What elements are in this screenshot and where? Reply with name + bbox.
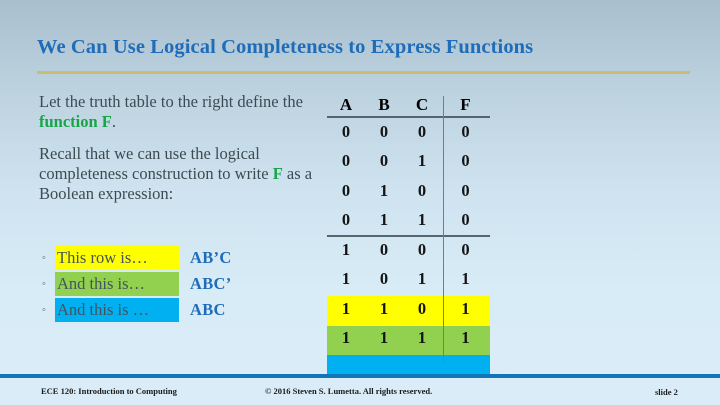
cell-c: 0 [403,122,441,142]
bullet-expression-yellow: AB’C [190,248,232,268]
table-row: 1 1 0 1 [327,294,490,324]
cell-c: 0 [403,240,441,260]
table-row: 0 0 0 0 [327,117,490,147]
cell-a: 1 [327,269,365,289]
cell-c: 1 [403,151,441,171]
cell-a: 0 [327,181,365,201]
cell-a: 0 [327,210,365,230]
cell-f: 1 [441,328,490,348]
list-item: ◦ This row is… AB’C [42,245,332,271]
table-row: 1 0 0 0 [327,235,490,265]
footer-slide-number: slide 2 [655,387,678,397]
paragraph-1-text-a: Let the truth table to the right define … [39,92,303,111]
cell-a: 0 [327,151,365,171]
cell-a: 0 [327,122,365,142]
table-row: 1 1 1 1 [327,324,490,354]
table-header-row: A B C F [327,92,490,117]
cell-f: 0 [441,151,490,171]
bullet-label-cyan: And this is … [55,298,179,322]
bullet-label-green: And this is… [55,272,179,296]
bullet-expression-cyan: ABC [190,300,226,320]
table-row: 1 0 1 1 [327,265,490,295]
paragraph-1-text-b: . [112,112,116,131]
cell-a: 1 [327,240,365,260]
cell-b: 0 [365,240,403,260]
column-header-a: A [327,95,365,115]
body-text-column: Let the truth table to the right define … [39,92,319,214]
table-vertical-divider [443,96,444,364]
title-underline-rule [37,71,690,74]
footer-course-label: ECE 120: Introduction to Computing [41,386,177,396]
bullet-expression-green: ABC’ [190,274,232,294]
table-body: 0 0 0 0 0 0 1 0 0 1 0 0 0 1 1 0 [327,117,490,353]
bullet-label-yellow: This row is… [55,246,179,270]
cell-f: 0 [441,181,490,201]
table-row: 0 0 1 0 [327,147,490,177]
footer-copyright-label: © 2016 Steven S. Lumetta. All rights res… [265,386,432,396]
cell-f: 1 [441,299,490,319]
cell-b: 1 [365,328,403,348]
cell-f: 0 [441,210,490,230]
cell-b: 0 [365,151,403,171]
column-header-b: B [365,95,403,115]
cell-c: 1 [403,328,441,348]
paragraph-2-text-a: Recall that we can use the logical compl… [39,144,273,183]
bullet-circle-icon: ◦ [42,279,55,290]
table-rule-midway [327,235,490,237]
bullet-circle-icon: ◦ [42,305,55,316]
cell-f: 1 [441,269,490,289]
cell-b: 0 [365,122,403,142]
cell-f: 0 [441,240,490,260]
cell-a: 1 [327,328,365,348]
cell-b: 1 [365,210,403,230]
table-rule-after-header [327,116,490,118]
cell-c: 1 [403,210,441,230]
column-header-c: C [403,95,441,115]
list-item: ◦ And this is… ABC’ [42,271,332,297]
cell-b: 1 [365,181,403,201]
cell-c: 1 [403,269,441,289]
cell-b: 1 [365,299,403,319]
page-title: We Can Use Logical Completeness to Expre… [37,36,697,59]
paragraph-1-function-label: function F [39,112,112,131]
cell-c: 0 [403,181,441,201]
list-item: ◦ And this is … ABC [42,297,332,323]
bullet-list: ◦ This row is… AB’C ◦ And this is… ABC’ … [42,245,332,323]
cell-f: 0 [441,122,490,142]
cell-b: 0 [365,269,403,289]
truth-table: A B C F 0 0 0 0 0 0 1 0 0 1 [327,92,490,353]
cell-a: 1 [327,299,365,319]
table-row: 0 1 0 0 [327,176,490,206]
paragraph-2-function-label: F [273,164,283,183]
cell-c: 0 [403,299,441,319]
paragraph-1: Let the truth table to the right define … [39,92,319,132]
bullet-circle-icon: ◦ [42,253,55,264]
table-row: 0 1 1 0 [327,206,490,236]
paragraph-2: Recall that we can use the logical compl… [39,144,319,204]
slide-canvas: We Can Use Logical Completeness to Expre… [0,0,720,405]
column-header-f: F [441,95,490,115]
